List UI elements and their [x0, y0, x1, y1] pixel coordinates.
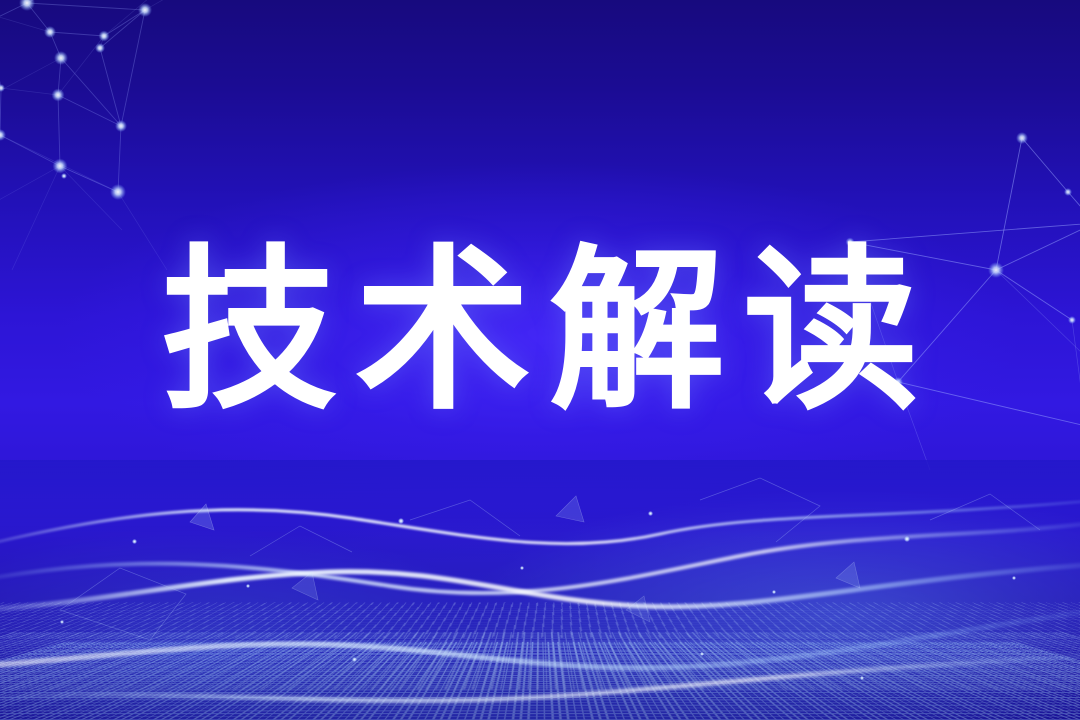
light-ribbon-group	[0, 460, 1080, 720]
mesh-link-lines	[60, 478, 1040, 640]
light-ribbon-upper	[0, 500, 1080, 546]
network-node-group	[0, 0, 152, 200]
light-ribbon-lower	[0, 610, 1080, 668]
particle-wave-field	[0, 460, 1080, 720]
poster-canvas: 技术解读	[0, 0, 1080, 720]
page-title: 技术解读	[0, 244, 1080, 420]
light-ribbon-mid	[0, 564, 1080, 610]
